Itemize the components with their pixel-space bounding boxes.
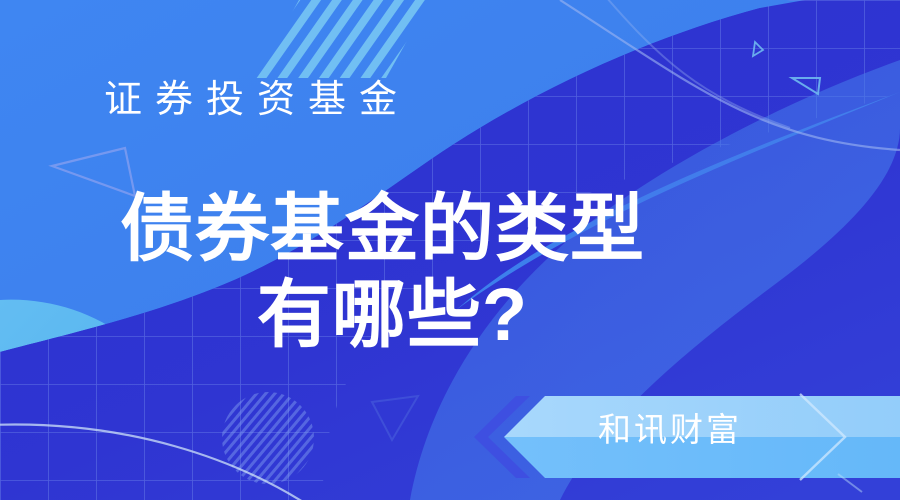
headline: 债券基金的类型 有哪些? (120, 186, 665, 358)
brand-badge-label: 和讯财富 (560, 410, 780, 450)
poster-text-layer: 证券投资基金 债券基金的类型 有哪些? 和讯财富 (0, 0, 900, 500)
headline-line-1: 债券基金的类型 (120, 186, 665, 272)
category-label: 证券投资基金 (104, 78, 410, 122)
poster-canvas: 证券投资基金 债券基金的类型 有哪些? 和讯财富 (0, 0, 900, 500)
headline-line-2: 有哪些? (120, 272, 665, 358)
